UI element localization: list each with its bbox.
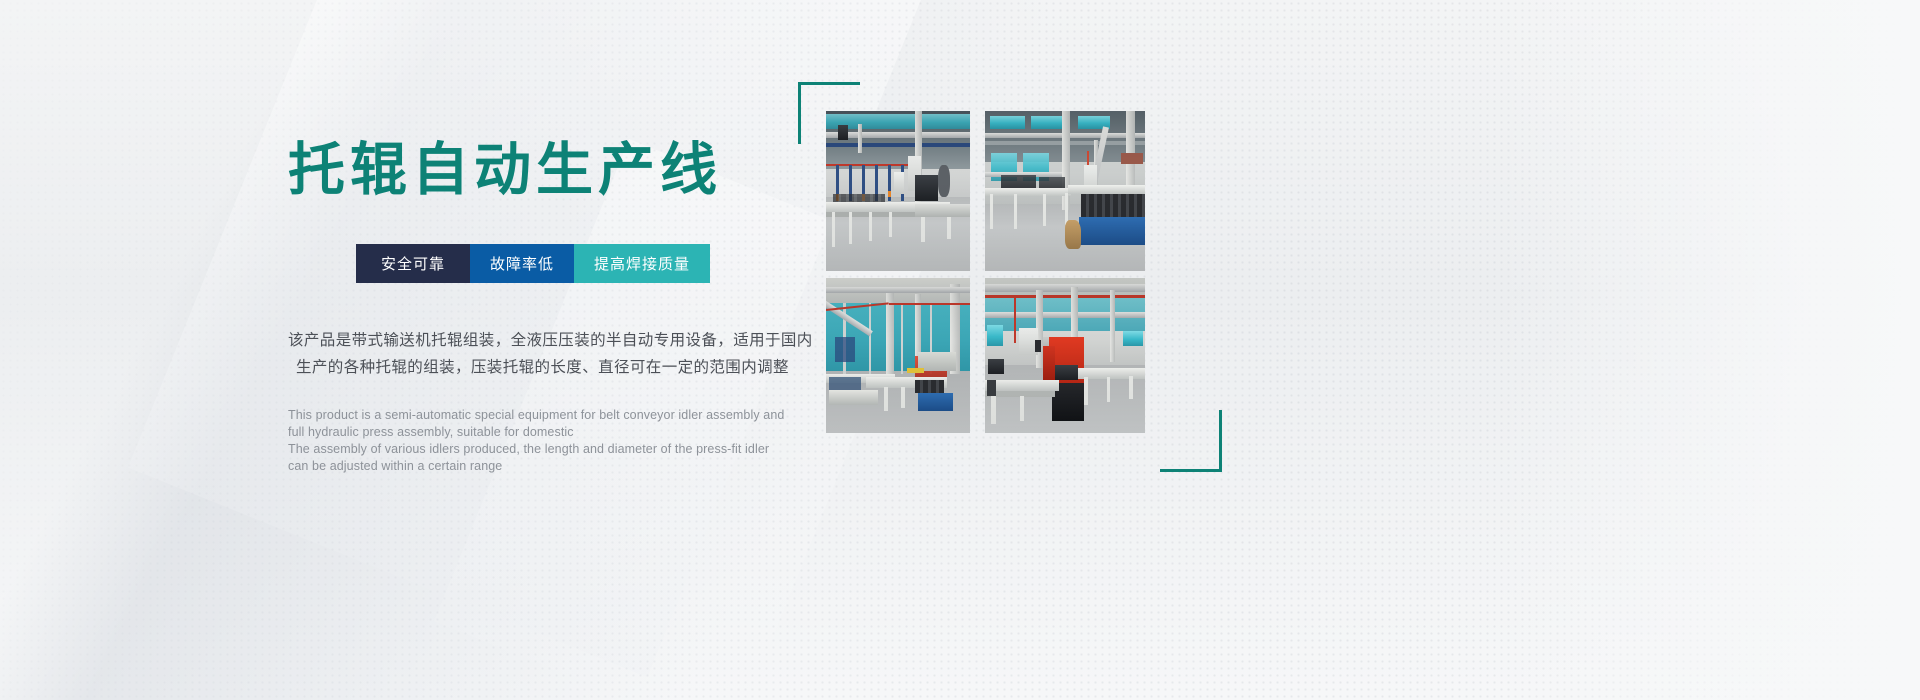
gallery-grid xyxy=(826,111,1154,441)
gallery-photo-3[interactable] xyxy=(826,278,970,433)
feature-badge-weld-quality-label: 提高焊接质量 xyxy=(594,253,690,274)
gallery-photo-1-art xyxy=(826,111,970,271)
gallery-photo-2-art xyxy=(985,111,1145,271)
feature-badge-weld-quality[interactable]: 提高焊接质量 xyxy=(574,244,710,283)
feature-badge-safety-label: 安全可靠 xyxy=(381,253,445,274)
gallery-photo-3-art xyxy=(826,278,970,433)
product-gallery xyxy=(798,82,1218,472)
gallery-photo-4[interactable] xyxy=(985,278,1145,433)
gallery-photo-1[interactable] xyxy=(826,111,970,271)
product-banner: 托辊自动生产线 安全可靠 故障率低 提高焊接质量 该产品是带式输送机托辊组装，全… xyxy=(0,0,1920,700)
feature-badge-safety[interactable]: 安全可靠 xyxy=(356,244,470,283)
feature-badge-failure-rate[interactable]: 故障率低 xyxy=(470,244,574,283)
right-edge-fade xyxy=(1500,0,1920,700)
gallery-photo-4-art xyxy=(985,278,1145,433)
corner-bracket-bottom-right-icon xyxy=(1160,410,1222,472)
gallery-photo-2[interactable] xyxy=(985,111,1145,271)
feature-badge-failure-rate-label: 故障率低 xyxy=(490,253,554,274)
